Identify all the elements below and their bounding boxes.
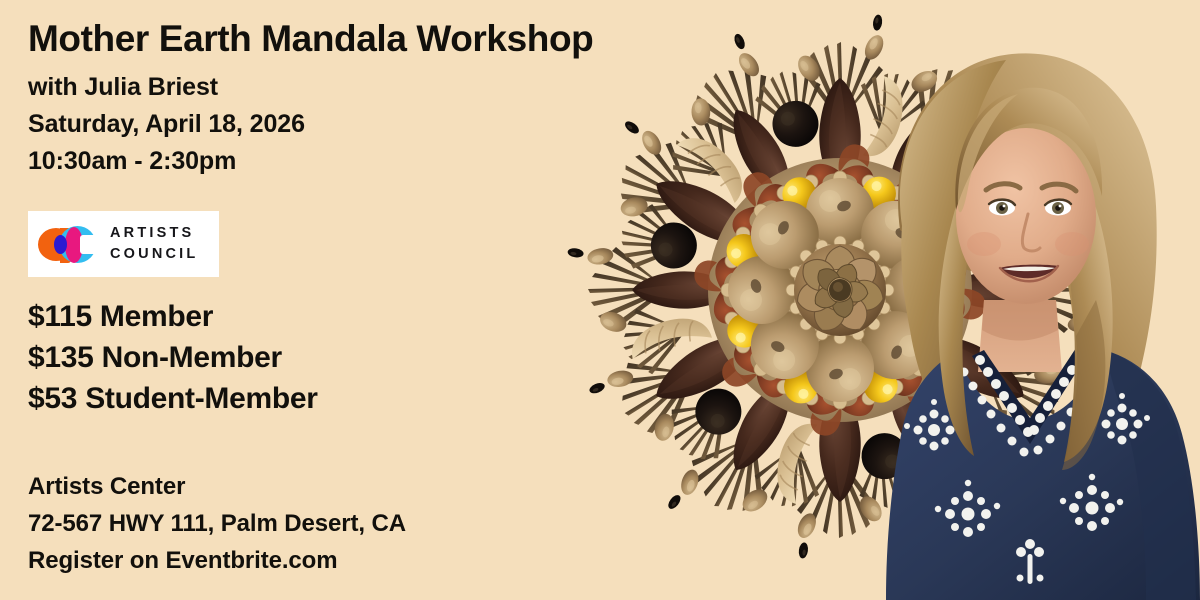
venue-address: 72-567 HWY 111, Palm Desert, CA xyxy=(28,510,406,538)
artists-council-monogram-icon xyxy=(37,222,99,266)
price-student-member: $53 Student-Member xyxy=(28,382,318,416)
page-title: Mother Earth Mandala Workshop xyxy=(28,20,593,59)
logo-letter-c-notch xyxy=(80,235,98,254)
instructor-portrait xyxy=(860,0,1200,600)
event-poster: Mother Earth Mandala Workshop with Julia… xyxy=(0,0,1200,600)
logo-wordmark: ARTISTS COUNCIL xyxy=(110,223,198,264)
presenter-line: with Julia Briest xyxy=(28,73,218,102)
logo-wordmark-line1: ARTISTS xyxy=(110,223,198,244)
poster-text-column: Mother Earth Mandala Workshop with Julia… xyxy=(28,0,508,600)
price-non-member: $135 Non-Member xyxy=(28,341,282,375)
event-time: 10:30am - 2:30pm xyxy=(28,147,236,176)
event-date: Saturday, April 18, 2026 xyxy=(28,110,305,139)
venue-name: Artists Center xyxy=(28,473,185,501)
photo-composite xyxy=(510,0,1200,600)
logo-counter-indigo xyxy=(54,235,67,254)
logo-wordmark-line2: COUNCIL xyxy=(110,244,198,265)
registration-line[interactable]: Register on Eventbrite.com xyxy=(28,547,337,575)
artists-council-logo[interactable]: ARTISTS COUNCIL xyxy=(28,211,219,277)
price-member: $115 Member xyxy=(28,300,213,334)
